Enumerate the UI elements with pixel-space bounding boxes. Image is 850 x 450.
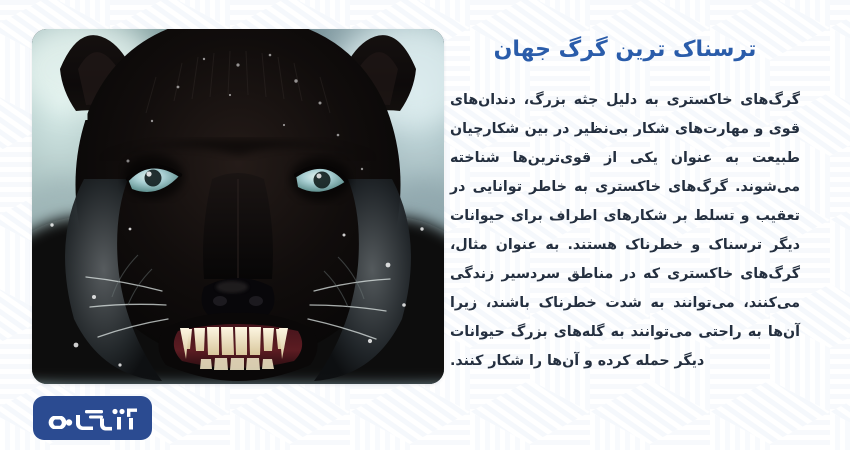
wolf-photo-illustration xyxy=(32,29,444,384)
article-text-column: ترسناک ترین گرگ جهان گرگ‌های خاکستری به … xyxy=(450,36,800,376)
wolf-left-eye xyxy=(124,155,184,199)
page-canvas: ترسناک ترین گرگ جهان گرگ‌های خاکستری به … xyxy=(0,0,850,450)
page-title: ترسناک ترین گرگ جهان xyxy=(450,36,800,65)
article-body-text: گرگ‌های خاکستری به دلیل جثه بزرگ، دندان‌… xyxy=(450,86,800,376)
wolf-right-eye xyxy=(290,157,350,201)
ayegah-wordmark-icon xyxy=(45,404,141,432)
wolf-photo xyxy=(32,29,444,384)
site-logo-badge[interactable] xyxy=(33,396,152,440)
